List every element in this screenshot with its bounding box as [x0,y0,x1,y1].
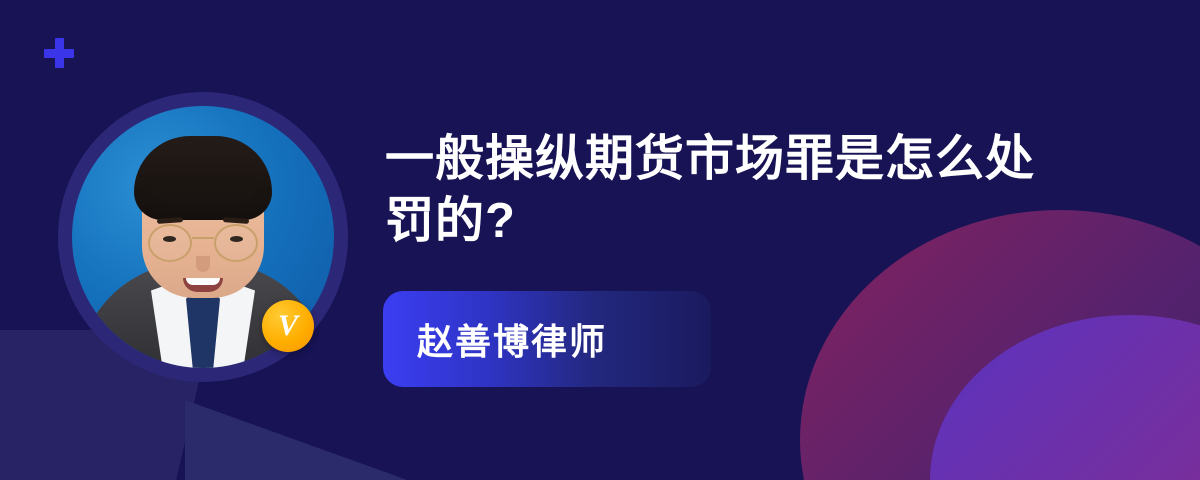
portrait-hair [134,136,272,220]
plus-icon [44,38,74,68]
verified-badge-icon: V [262,300,314,352]
portrait-nose [196,256,210,272]
avatar[interactable]: V [58,92,348,382]
lawyer-name-label: 赵善博律师 [383,313,607,365]
decor-triangle-middle [185,400,435,480]
glasses-bridge [192,237,214,239]
glasses-lens-right [214,224,258,262]
page-title: 一般操纵期货市场罪是怎么处罚的? [385,128,1075,252]
glasses-lens-left [148,224,192,262]
verified-badge-letter: V [278,311,298,341]
lawyer-qa-banner: V 一般操纵期货市场罪是怎么处罚的? 赵善博律师 [0,0,1200,480]
glasses-icon [144,224,262,258]
plus-icon-bar-vertical [55,38,64,68]
lawyer-name-badge[interactable]: 赵善博律师 [383,291,711,387]
